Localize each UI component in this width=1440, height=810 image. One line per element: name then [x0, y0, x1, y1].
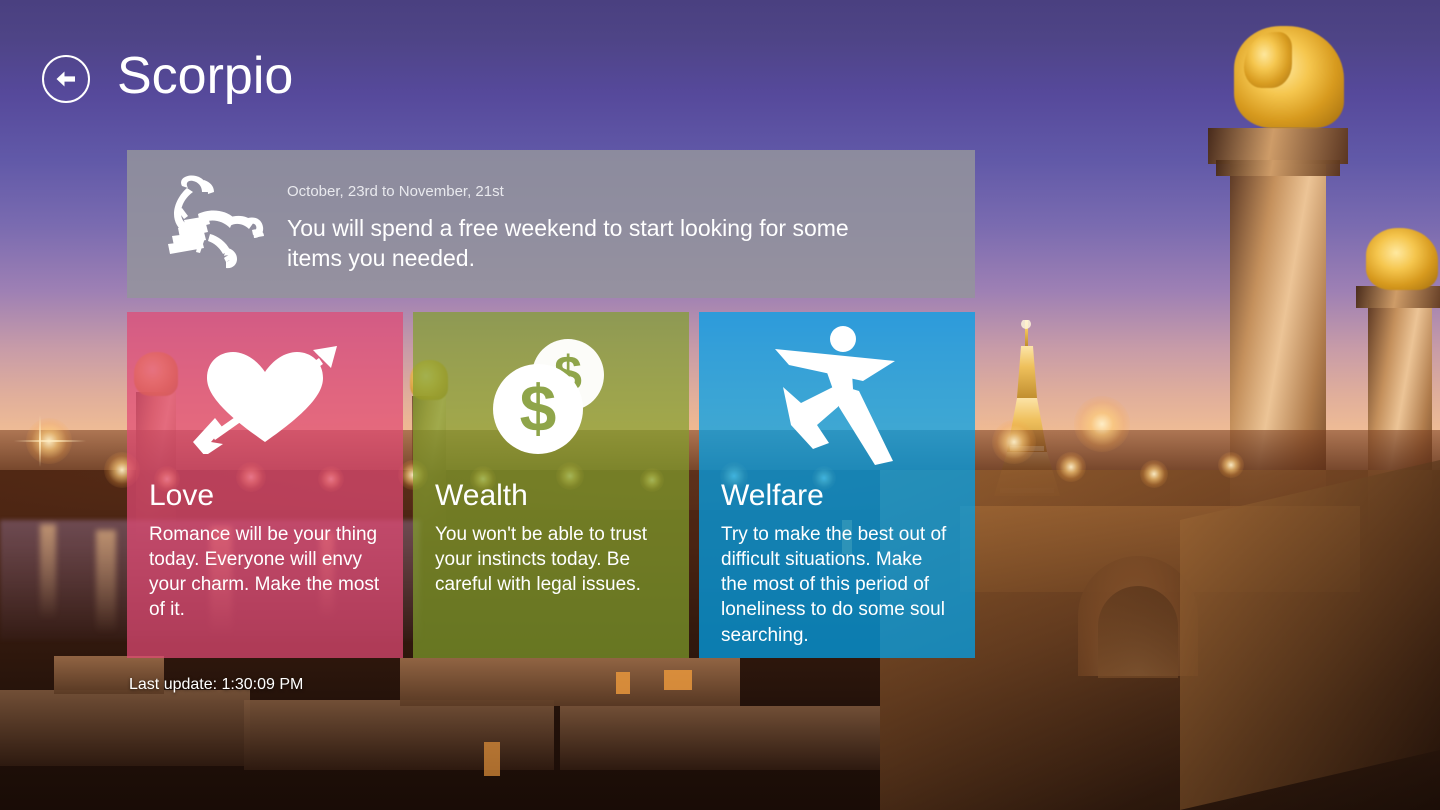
- summary-description: You will spend a free weekend to start l…: [287, 213, 887, 274]
- boat-window: [664, 670, 692, 690]
- last-update-label: Last update: 1:30:09 PM: [129, 676, 303, 694]
- tile-welfare-description: Try to make the best out of difficult si…: [721, 522, 953, 648]
- street-lamp-glow: [1140, 460, 1168, 488]
- bridge-pylon-main-base: [1216, 160, 1340, 176]
- scorpion-icon: [127, 150, 287, 280]
- running-person-icon: [699, 312, 975, 480]
- page-title: Scorpio: [117, 50, 293, 102]
- svg-text:$: $: [520, 371, 557, 445]
- street-lamp-glow: [1218, 452, 1244, 478]
- app-header: Scorpio: [0, 0, 293, 103]
- boat-window: [616, 672, 630, 694]
- zodiac-date-range: October, 23rd to November, 21st: [287, 184, 887, 201]
- horoscope-app-window: Scorpio: [0, 0, 1440, 810]
- dock-lamp: [484, 742, 500, 776]
- gold-statue-secondary: [1366, 228, 1438, 290]
- category-tiles: Love Romance will be your thing today. E…: [127, 312, 975, 658]
- tile-welfare[interactable]: Welfare Try to make the best out of diff…: [699, 312, 975, 658]
- tile-love-body: Love Romance will be your thing today. E…: [127, 480, 403, 623]
- summary-text-block: October, 23rd to November, 21st You will…: [287, 150, 927, 273]
- back-arrow-icon: [53, 69, 79, 89]
- dollar-coins-icon: $ $: [413, 312, 689, 480]
- street-lamp-glow: [1056, 452, 1086, 482]
- water-reflection-1: [40, 524, 56, 620]
- tile-welfare-title: Welfare: [721, 480, 953, 512]
- horoscope-summary-panel: October, 23rd to November, 21st You will…: [127, 150, 975, 298]
- tile-wealth-body: Wealth You won't be able to trust your i…: [413, 480, 689, 597]
- tile-wealth-description: You won't be able to trust your instinct…: [435, 522, 667, 598]
- tile-love[interactable]: Love Romance will be your thing today. E…: [127, 312, 403, 658]
- street-lamp-glow: [992, 420, 1036, 464]
- tile-wealth-title: Wealth: [435, 480, 667, 512]
- back-button[interactable]: [42, 55, 90, 103]
- embankment-wall: [1180, 460, 1440, 810]
- heart-with-arrow-icon: [127, 312, 403, 480]
- water-reflection-2: [96, 530, 116, 634]
- bridge-pylon-main-cap: [1208, 128, 1348, 164]
- lens-flare-streak: [39, 415, 41, 467]
- street-lamp-glow: [1074, 396, 1130, 452]
- tile-wealth[interactable]: $ $ Wealth You won't be able to trust yo…: [413, 312, 689, 658]
- moored-boat-2: [244, 700, 554, 770]
- moored-boat-3: [560, 706, 880, 770]
- tile-love-title: Love: [149, 480, 381, 512]
- moored-boat-1: [0, 690, 250, 766]
- lens-flare-streak: [14, 440, 86, 442]
- tile-welfare-body: Welfare Try to make the best out of diff…: [699, 480, 975, 648]
- tile-love-description: Romance will be your thing today. Everyo…: [149, 522, 381, 623]
